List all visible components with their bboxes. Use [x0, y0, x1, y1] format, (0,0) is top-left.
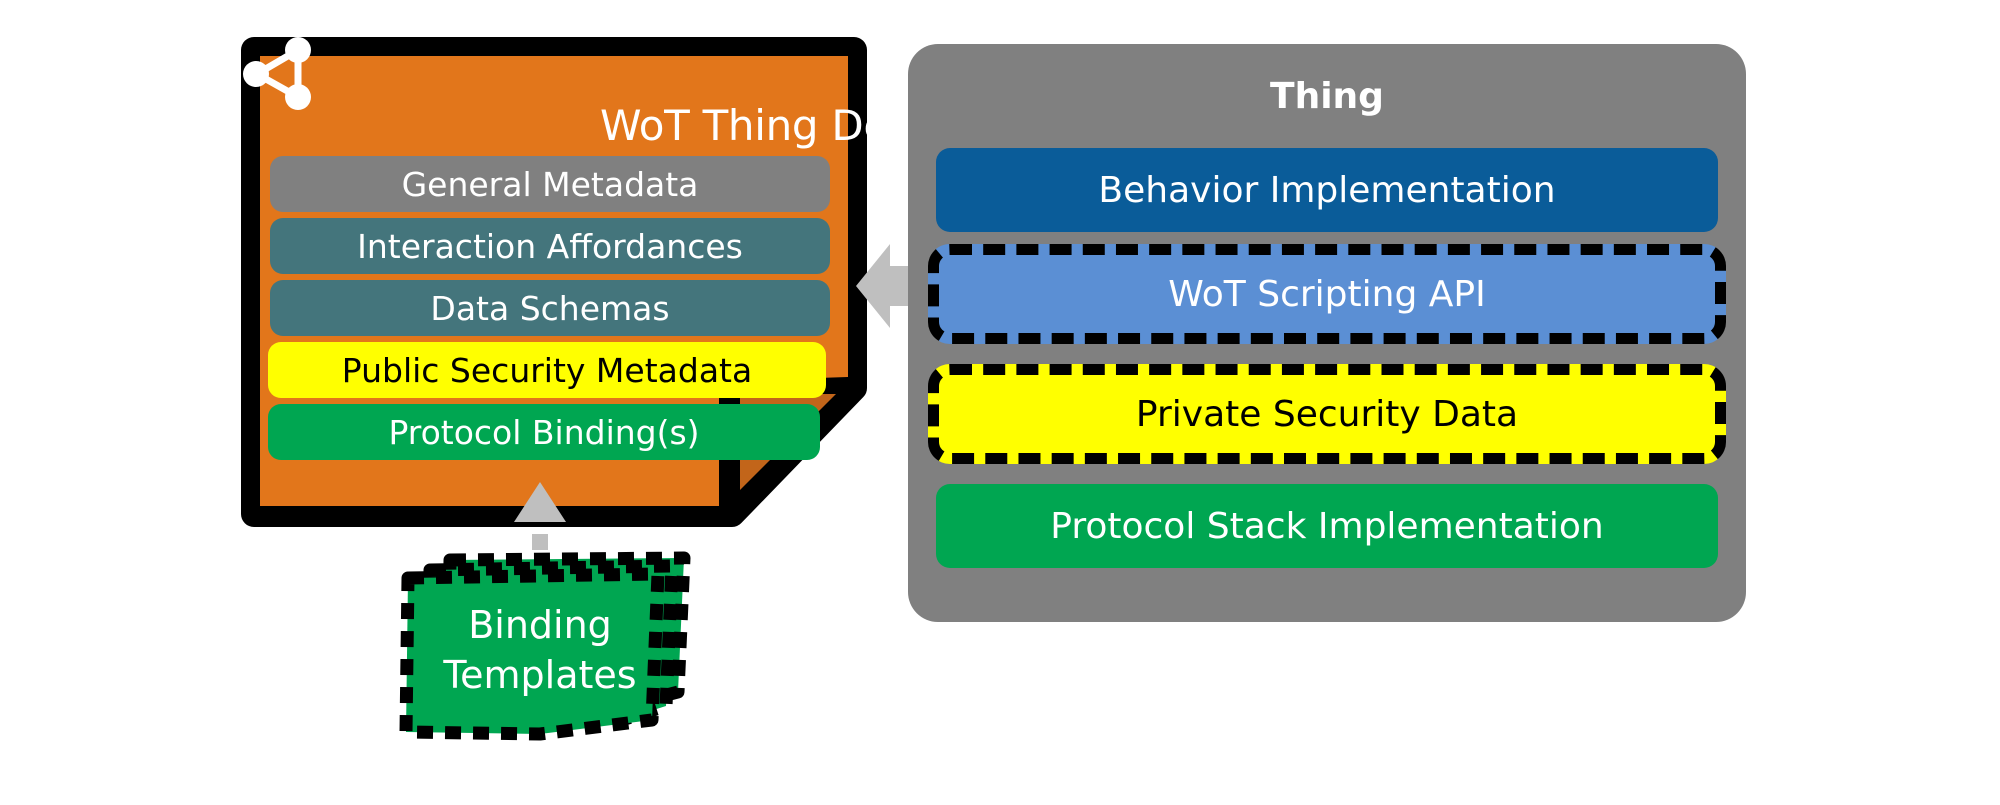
thing-description-document[interactable]: WoT Thing Description General Metadata I… — [240, 36, 868, 536]
td-row-public-security-metadata[interactable]: Public Security Metadata — [268, 342, 826, 398]
wot-share-icon — [240, 36, 314, 110]
td-row-data-schemas[interactable]: Data Schemas — [270, 280, 830, 336]
binding-templates-label-line1: Binding — [406, 600, 674, 650]
thing-row-private-security-data[interactable]: Private Security Data — [928, 364, 1726, 464]
thing-row-wot-scripting-api[interactable]: WoT Scripting API — [928, 244, 1726, 344]
thing-container[interactable]: Thing Behavior Implementation WoT Script… — [908, 44, 1746, 622]
thing-row-protocol-stack-implementation[interactable]: Protocol Stack Implementation — [936, 484, 1718, 568]
binding-templates-label: Binding Templates — [406, 600, 674, 700]
binding-templates-shape[interactable]: Binding Templates — [390, 542, 710, 762]
td-row-general-metadata[interactable]: General Metadata — [270, 156, 830, 212]
diagram-canvas: WoT Thing Description General Metadata I… — [0, 0, 2000, 805]
td-row-interaction-affordances[interactable]: Interaction Affordances — [270, 218, 830, 274]
thing-row-behavior-implementation[interactable]: Behavior Implementation — [936, 148, 1718, 232]
td-row-protocol-bindings[interactable]: Protocol Binding(s) — [268, 404, 820, 460]
binding-templates-label-line2: Templates — [406, 650, 674, 700]
thing-title: Thing — [908, 76, 1746, 117]
